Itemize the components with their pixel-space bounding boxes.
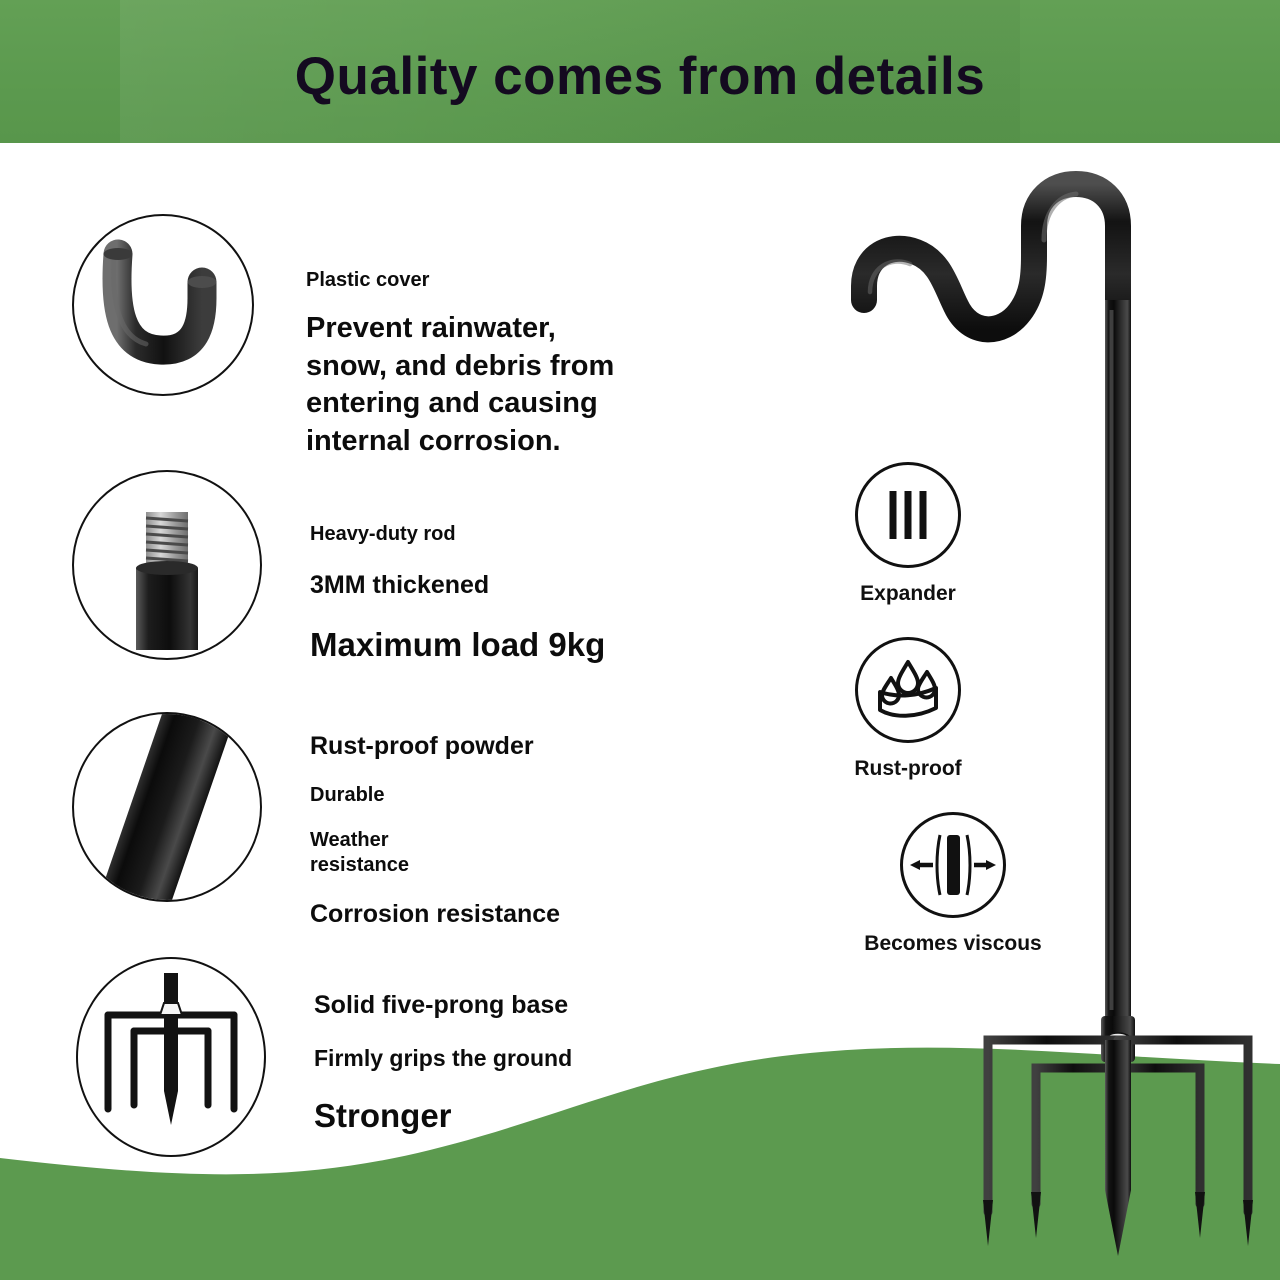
feature-heading: Plastic cover [306, 268, 636, 293]
feature-heading: Rust-proof powder [310, 730, 560, 763]
feature-line: Durable [310, 783, 560, 808]
page-title: Quality comes from details [0, 50, 1280, 103]
feature-heavy-duty-rod: Heavy-duty rod 3MM thickened Maximum loa… [72, 470, 605, 666]
badge-label: Expander [808, 582, 1008, 606]
feature-text-group: Heavy-duty rod 3MM thickened Maximum loa… [310, 470, 605, 666]
feature-heading: Heavy-duty rod [310, 522, 605, 547]
product-shaft [1105, 300, 1131, 1030]
feature-five-prong-base: Solid five-prong base Firmly grips the g… [76, 957, 572, 1157]
powder-coated-rod-icon [72, 712, 262, 902]
feature-text-group: Solid five-prong base Firmly grips the g… [314, 957, 572, 1138]
badge-label: Rust-proof [808, 757, 1008, 781]
infographic-canvas: Quality comes from details [0, 0, 1280, 1280]
threaded-rod-end-icon [72, 470, 262, 660]
feature-line: Weather resistance [310, 828, 445, 878]
five-prong-base-icon [76, 957, 266, 1157]
badge-rust-proof: Rust-proof [808, 637, 1008, 781]
product-center-spike [1105, 1040, 1131, 1256]
feature-line: Firmly grips the ground [314, 1044, 572, 1074]
product-hook [864, 184, 1118, 329]
feature-text-group: Rust-proof powder Durable Weather resist… [310, 712, 560, 930]
water-droplets-on-surface-icon [855, 637, 961, 743]
feature-line: Prevent rainwater, snow, and debris from… [306, 310, 636, 461]
badge-expander: Expander [808, 462, 1008, 606]
header-banner: Quality comes from details [0, 0, 1280, 143]
hook-tip-with-plastic-cap-icon [72, 214, 254, 396]
feature-plastic-cover: Plastic cover Prevent rainwater, snow, a… [72, 214, 636, 461]
feature-line: 3MM thickened [310, 569, 605, 602]
badge-becomes-viscous: Becomes viscous [808, 812, 1098, 956]
feature-heading: Solid five-prong base [314, 989, 572, 1022]
feature-line: Stronger [314, 1095, 572, 1138]
three-bars-icon [855, 462, 961, 568]
badge-label: Becomes viscous [808, 932, 1098, 956]
feature-rust-proof-powder: Rust-proof powder Durable Weather resist… [72, 712, 560, 930]
feature-line: Corrosion resistance [310, 898, 560, 931]
expand-arrows-bar-icon [900, 812, 1006, 918]
feature-line: Maximum load 9kg [310, 624, 605, 667]
feature-text-group: Plastic cover Prevent rainwater, snow, a… [306, 214, 636, 461]
